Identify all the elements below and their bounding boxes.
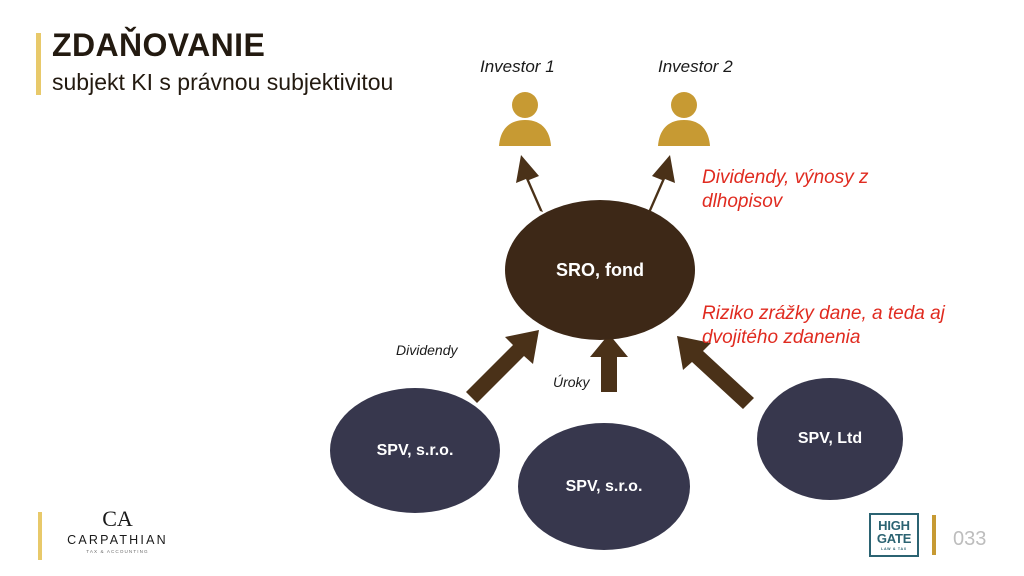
annotation-dividendy-vynosy: Dividendy, výnosy z dlhopisov: [702, 166, 1002, 215]
node-spv-sro-left[interactable]: SPV, s.r.o.: [330, 388, 500, 513]
footer-accent-bar: [38, 512, 42, 560]
highgate-logo: HIGH GATE LAW & TAX: [869, 513, 919, 557]
node-spv-sro-center-label: SPV, s.r.o.: [566, 478, 643, 496]
carpathian-logo: CA CARPATHIAN TAX & ACCOUNTING: [55, 508, 180, 554]
arrow-spv1-to-sro: [466, 330, 539, 403]
annotation-dividendy-vynosy-line1: Dividendy, výnosy z: [702, 166, 1002, 190]
node-spv-ltd-right-label: SPV, Ltd: [798, 430, 862, 448]
person-icon: [653, 88, 715, 150]
annotation-riziko-zrazky-line2: dvojitého zdanenia: [702, 326, 1012, 350]
arrow-sro-to-investor1: [516, 155, 543, 212]
title-accent-bar: [36, 33, 41, 95]
edge-label-dividendy: Dividendy: [396, 342, 457, 358]
node-sro-fond-label: SRO, fond: [556, 260, 644, 281]
highgate-tagline: LAW & TAX: [881, 547, 907, 551]
annotation-riziko-zrazky-line1: Riziko zrážky dane, a teda aj: [702, 302, 1012, 326]
carpathian-tagline: TAX & ACCOUNTING: [55, 549, 180, 554]
slide-canvas: ZDAŇOVANIE subjekt KI s právnou subjekti…: [0, 0, 1024, 576]
node-spv-ltd-right[interactable]: SPV, Ltd: [757, 378, 903, 500]
arrow-spv2-to-sro: [590, 334, 628, 392]
page-number: 033: [953, 528, 986, 551]
page-title: ZDAŇOVANIE: [52, 27, 265, 64]
investor-1-label: Investor 1: [480, 57, 555, 77]
footer-divider: [932, 515, 936, 555]
annotation-riziko-zrazky: Riziko zrážky dane, a teda aj dvojitého …: [702, 302, 1012, 351]
arrow-sro-to-investor2: [648, 155, 675, 212]
highgate-line1: HIGH: [878, 519, 910, 532]
edge-label-uroky: Úroky: [553, 374, 590, 390]
annotation-dividendy-vynosy-line2: dlhopisov: [702, 190, 1002, 214]
highgate-line2: GATE: [877, 532, 911, 545]
page-subtitle: subjekt KI s právnou subjektivitou: [52, 69, 393, 96]
person-icon: [494, 88, 556, 150]
carpathian-monogram: CA: [55, 508, 180, 530]
carpathian-name: CARPATHIAN: [55, 533, 180, 547]
node-spv-sro-left-label: SPV, s.r.o.: [377, 442, 454, 460]
node-sro-fond[interactable]: SRO, fond: [505, 200, 695, 340]
node-spv-sro-center[interactable]: SPV, s.r.o.: [518, 423, 690, 550]
investor-2-label: Investor 2: [658, 57, 733, 77]
